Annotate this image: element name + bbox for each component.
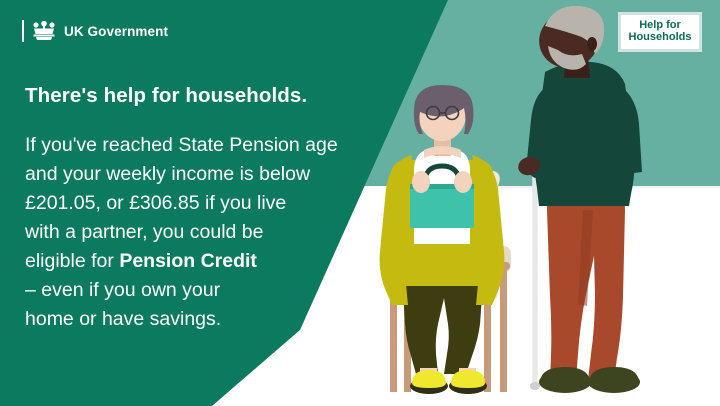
help-for-households-poster: UK Government Help for Households There'… — [0, 0, 720, 406]
body-line-4: with a partner, you could be — [25, 218, 395, 247]
help-for-households-badge[interactable]: Help for Households — [618, 12, 702, 52]
body-line-5-prefix: eligible for — [25, 250, 119, 272]
pension-credit-emphasis: Pension Credit — [119, 250, 257, 272]
body-copy: If you've reached State Pension age and … — [25, 131, 395, 334]
uk-government-logo: UK Government — [22, 18, 168, 44]
body-line-3: £201.05, or £306.85 if you live — [25, 189, 395, 218]
uk-government-label: UK Government — [64, 24, 168, 39]
body-line-2: and your weekly income is below — [25, 160, 395, 189]
floor-divider — [430, 186, 720, 188]
body-line-7: home or have savings. — [25, 305, 395, 334]
logo-divider — [22, 20, 24, 42]
body-line-5: eligible for Pension Credit — [25, 247, 395, 276]
body-line-1: If you've reached State Pension age — [25, 131, 395, 160]
body-line-6: – even if you own your — [25, 276, 395, 305]
headline: There's help for households. — [25, 84, 307, 108]
badge-line-2: Households — [629, 32, 692, 44]
uk-crown-icon — [31, 21, 57, 41]
